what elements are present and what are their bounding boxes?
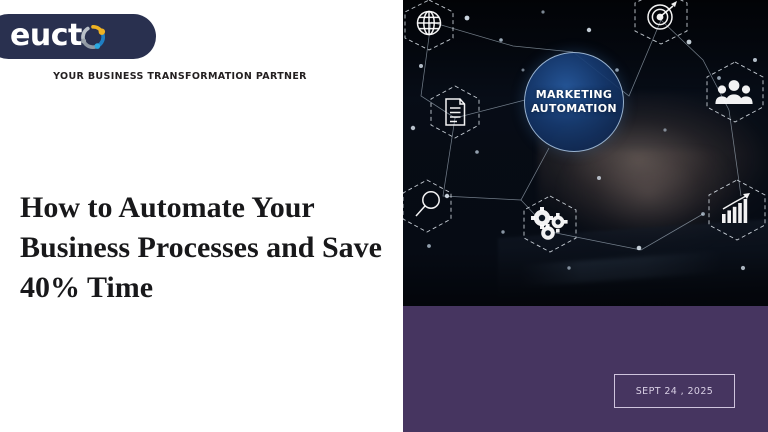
gears-icon — [524, 196, 576, 252]
brand-logo-wordmark: euct — [10, 21, 82, 51]
center-node-label-line1: MARKETING — [536, 88, 613, 101]
document-icon — [431, 86, 479, 138]
footer-band: SEPT 24 , 2025 — [403, 306, 768, 432]
brand-logo: euct — [0, 14, 156, 59]
circular-arrows-icon — [79, 23, 107, 51]
brand-tagline: YOUR BUSINESS TRANSFORMATION PARTNER — [0, 71, 360, 82]
date-badge: SEPT 24 , 2025 — [614, 374, 735, 408]
people-group-icon — [707, 62, 763, 122]
page-title: How to Automate Your Business Processes … — [20, 188, 400, 308]
network-overlay: .hexl { fill:none; stroke:#e8eef6; strok… — [403, 0, 768, 306]
date-badge-text: SEPT 24 , 2025 — [636, 386, 714, 397]
magnifier-icon — [403, 180, 451, 232]
left-content-panel: euct YOUR BUSINESS TRANSFORMATION PARTNE… — [0, 0, 403, 432]
hero-image: .hexl { fill:none; stroke:#e8eef6; strok… — [403, 0, 768, 306]
bar-chart-icon — [709, 180, 765, 240]
presentation-slide: euct YOUR BUSINESS TRANSFORMATION PARTNE… — [0, 0, 768, 432]
globe-icon — [405, 0, 453, 50]
center-node-label-line2: AUTOMATION — [531, 102, 617, 115]
center-node: MARKETING AUTOMATION — [524, 52, 624, 152]
center-node-label: MARKETING AUTOMATION — [531, 88, 617, 116]
right-visual-panel: .hexl { fill:none; stroke:#e8eef6; strok… — [403, 0, 768, 432]
